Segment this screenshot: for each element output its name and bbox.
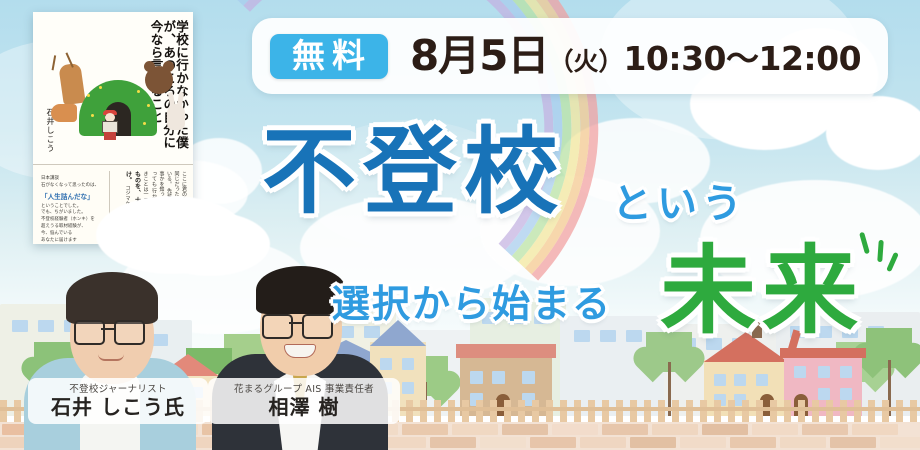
- event-date-text: 8月5日（火）10:30〜12:00: [410, 35, 861, 77]
- event-banner: 学校に行かなかった僕が、あのころの自分に今なら言えること 石井しこう 日本講談: [0, 0, 920, 450]
- speaker-1-role: 不登校ジャーナリスト: [69, 385, 167, 395]
- speaker-1-name: 石井 しこう氏: [51, 397, 185, 417]
- child-illustration: [101, 110, 119, 140]
- speaker-2-name: 相澤 樹: [269, 397, 340, 417]
- nameplate-speaker-2: 花まるグループ AIS 事業責任者 相澤 樹: [208, 378, 400, 424]
- fox-illustration: [51, 104, 77, 122]
- deer-illustration: [58, 63, 85, 106]
- event-date-banner: 無料 8月5日（火）10:30〜12:00: [252, 18, 888, 94]
- bear-illustration: [145, 66, 173, 94]
- free-badge: 無料: [270, 34, 388, 79]
- obi-highlight: 「人生詰んだな」: [41, 191, 107, 201]
- nameplate-speaker-1: 不登校ジャーナリスト 石井 しこう氏: [28, 378, 208, 424]
- event-weekday: （火）: [548, 47, 623, 76]
- obi-label: 日本講談: [41, 175, 107, 182]
- speaker-2-role: 花まるグループ AIS 事業責任者: [234, 385, 374, 395]
- rabbit-illustration: [167, 104, 185, 130]
- event-month-day: 8月5日: [410, 31, 548, 80]
- obi-text-1: 石がなくなって思ったのは、: [41, 182, 107, 189]
- event-time-range: 10:30〜12:00: [623, 39, 861, 78]
